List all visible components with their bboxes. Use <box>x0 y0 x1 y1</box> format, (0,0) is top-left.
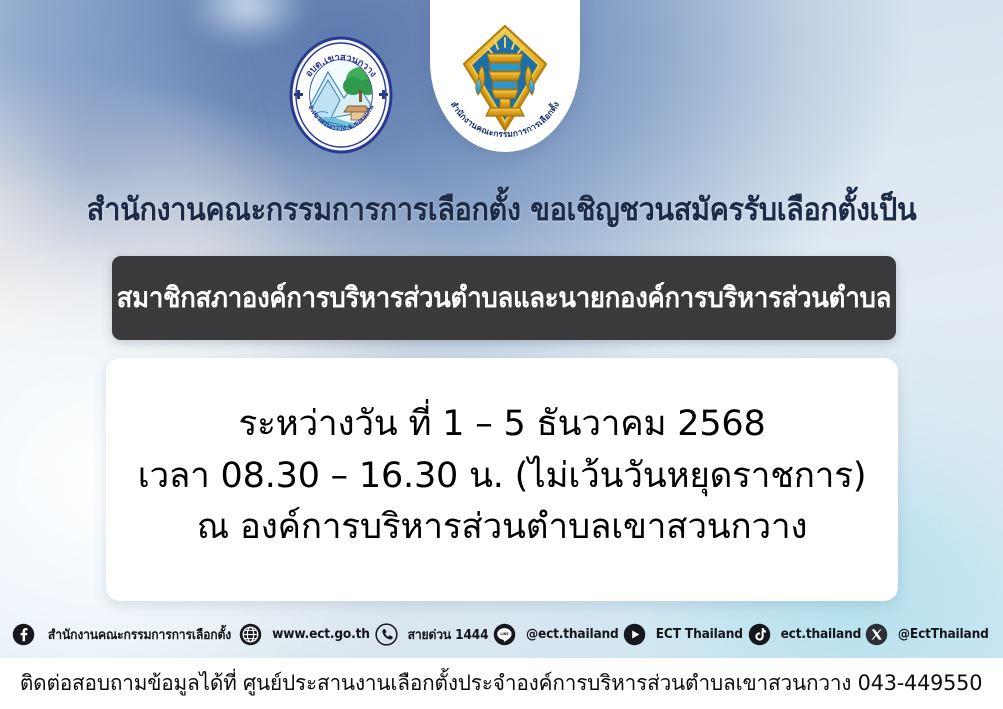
social-label-hotline: สายด่วน 1444 <box>407 624 488 645</box>
social-label-line: @ect.thailand <box>526 627 619 642</box>
social-item-youtube[interactable]: ECT Thailand <box>623 623 746 646</box>
social-item-hotline[interactable]: สายด่วน 1444 <box>375 623 491 646</box>
social-label-website: www.ect.go.th <box>272 627 370 642</box>
social-label-facebook: สำนักงานคณะกรรมการการเลือกตั้ง <box>48 624 231 645</box>
election-announcement-poster: สำนักงานคณะกรรมการการเลือกตั้ง <box>0 0 1003 709</box>
position-banner: สมาชิกสภาองค์การบริหารส่วนตำบลและนายกองค… <box>112 256 896 340</box>
sao-khao-suan-kwang-seal-icon: อบต.เขาสวนกวาง อ.เขาสวนกวาง จ.ขอนแก่น <box>288 36 394 154</box>
social-item-x[interactable]: @EctThailand <box>865 623 992 646</box>
line-icon: LINE <box>493 623 516 646</box>
details-line-place: ณ องค์การบริหารส่วนตำบลเขาสวนกวาง <box>197 503 808 553</box>
social-label-tiktok: ect.thailand <box>780 627 861 642</box>
globe-icon <box>239 623 262 646</box>
poster-headline: สำนักงานคณะกรรมการการเลือกตั้ง ขอเชิญชวน… <box>35 184 968 234</box>
contact-strip: ติดต่อสอบถามข้อมูลได้ที่ ศูนย์ประสานงานเ… <box>0 658 1003 709</box>
details-card: ระหว่างวัน ที่ 1 – 5 ธันวาคม 2568 เวลา 0… <box>106 358 898 601</box>
svg-text:LINE: LINE <box>500 632 508 636</box>
details-line-time: เวลา 08.30 – 16.30 น. (ไม่เว้นวันหยุดราช… <box>138 452 867 502</box>
youtube-icon <box>623 623 646 646</box>
contact-text: ติดต่อสอบถามข้อมูลได้ที่ ศูนย์ประสานงานเ… <box>20 667 982 700</box>
social-item-line[interactable]: LINE @ect.thailand <box>493 623 622 646</box>
social-label-youtube: ECT Thailand <box>656 627 743 642</box>
tiktok-icon <box>748 623 771 646</box>
social-media-bar: สำนักงานคณะกรรมการการเลือกตั้ง www.ect.g… <box>0 613 1003 655</box>
social-item-website[interactable]: www.ect.go.th <box>239 623 373 646</box>
facebook-icon <box>12 623 35 646</box>
social-label-x: @EctThailand <box>898 627 989 642</box>
social-item-tiktok[interactable]: ect.thailand <box>748 623 864 646</box>
ect-emblem-icon <box>446 18 564 140</box>
social-item-facebook[interactable]: สำนักงานคณะกรรมการการเลือกตั้ง <box>12 623 237 646</box>
phone-icon <box>375 623 398 646</box>
poster-artwork-area: สำนักงานคณะกรรมการการเลือกตั้ง <box>0 0 1003 658</box>
position-banner-text: สมาชิกสภาองค์การบริหารส่วนตำบลและนายกองค… <box>117 276 891 320</box>
x-twitter-icon <box>865 623 888 646</box>
details-line-date: ระหว่างวัน ที่ 1 – 5 ธันวาคม 2568 <box>238 400 765 450</box>
